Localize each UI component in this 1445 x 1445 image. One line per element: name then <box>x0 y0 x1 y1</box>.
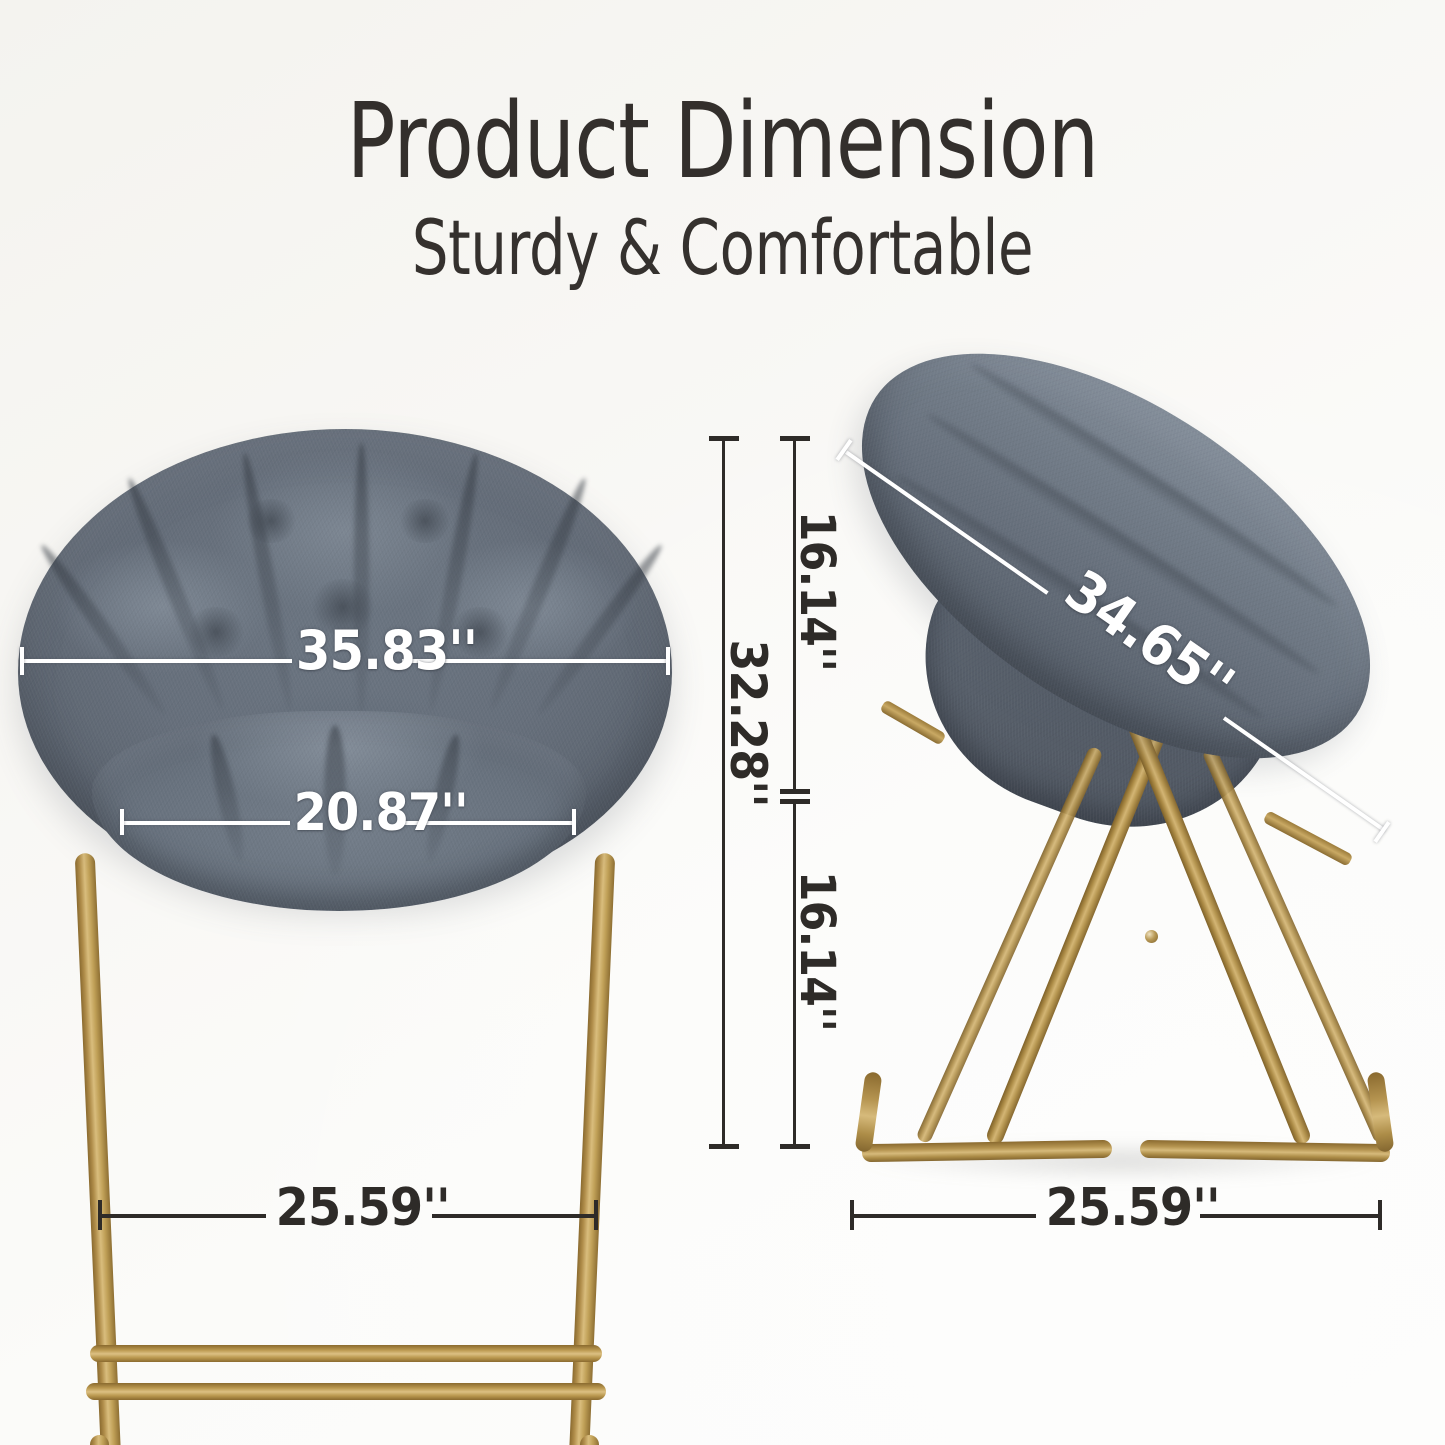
front-depth-dim-line-right <box>432 1214 598 1218</box>
front-depth-label: 25.59'' <box>276 1178 450 1238</box>
seat-seam-left <box>205 733 250 864</box>
front-depth-dim-line-left <box>100 1214 266 1218</box>
side-depth-cap-left <box>850 1200 854 1230</box>
product-dimension-infographic: Product Dimension Sturdy & Comfortable <box>0 0 1445 1445</box>
front-depth-cap-left <box>98 1200 102 1230</box>
side-frame-left-foot-riser <box>855 1071 883 1153</box>
seat-width-cap-left <box>120 809 124 835</box>
seat-width-cap-right <box>572 809 576 835</box>
seat-height-cap-top <box>780 799 810 804</box>
side-depth-label: 25.59'' <box>1046 1178 1220 1238</box>
cushion-tuft-upper-left <box>244 499 298 543</box>
seat-width-dim-line-left <box>122 821 290 825</box>
overall-width-cap-right <box>666 647 670 675</box>
seat-width-label: 20.87'' <box>294 783 468 843</box>
seat-height-cap-bottom <box>780 1144 810 1149</box>
cushion-seam-5 <box>484 475 592 713</box>
side-depth-dim-line-right <box>1200 1214 1382 1218</box>
header-block: Product Dimension Sturdy & Comfortable <box>0 88 1445 288</box>
front-depth-cap-right <box>594 1200 598 1230</box>
cushion-seam-2 <box>237 452 297 713</box>
side-depth-cap-right <box>1378 1200 1382 1230</box>
total-height-cap-top <box>709 436 739 441</box>
back-height-cap-top <box>780 436 810 441</box>
front-frame-upper-rail <box>90 1345 602 1362</box>
saucer-chair-front-view: 35.83'' 20.87'' <box>10 425 680 1165</box>
total-height-cap-bottom <box>709 1144 739 1149</box>
front-frame-lower-rail <box>86 1383 606 1400</box>
total-height-label: 32.28'' <box>719 639 777 806</box>
cushion-tuft-upper-right <box>398 499 452 543</box>
overall-width-dim-line-left <box>20 659 292 663</box>
page-title: Product Dimension <box>159 88 1286 194</box>
side-frame-front-bracket <box>1263 810 1354 867</box>
saucer-chair-side-view: 34.65'' <box>820 400 1420 1180</box>
back-height-cap-bottom <box>780 789 810 794</box>
side-depth-dim-line-left <box>852 1214 1036 1218</box>
page-subtitle: Sturdy & Comfortable <box>173 208 1271 288</box>
front-frame-right-base-curve <box>580 1435 599 1445</box>
cushion-tuft-left <box>186 607 246 657</box>
cushion-seam-6 <box>36 541 172 720</box>
overall-width-cap-left <box>20 647 24 675</box>
overall-width-label: 35.83'' <box>296 619 477 682</box>
side-frame-pivot-rivet <box>1145 930 1158 943</box>
